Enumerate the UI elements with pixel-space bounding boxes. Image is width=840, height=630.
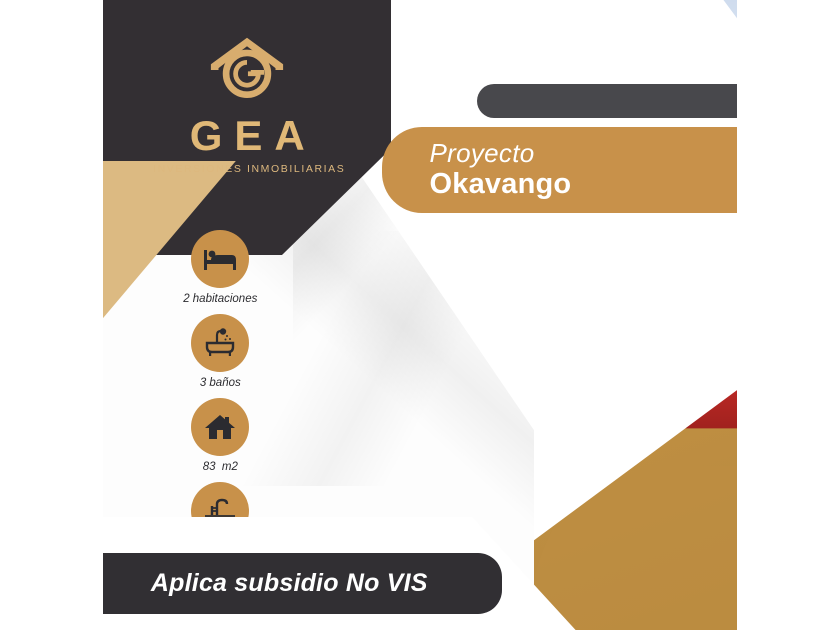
bed-icon	[203, 246, 237, 272]
poster-canvas: GEA INVERSIONES INMOBILIARIAS Proyecto O…	[0, 0, 840, 630]
feature-icon-circle	[191, 398, 249, 456]
feature-list: 2 habitaciones 3 baños	[141, 230, 300, 566]
project-name: Okavango	[430, 168, 738, 200]
feature-label: 3 baños	[141, 377, 300, 389]
feature-icon-circle	[191, 230, 249, 288]
house-monogram-g-icon	[201, 32, 293, 108]
feature-item-bedrooms: 2 habitaciones	[141, 230, 300, 305]
feature-item-area: 83 m2	[141, 398, 300, 473]
feature-label: 2 habitaciones	[141, 293, 300, 305]
footer-banner: Aplica subsidio No VIS	[103, 553, 502, 614]
project-pre-label: Proyecto	[430, 140, 738, 168]
footer-label: Aplica subsidio No VIS	[103, 569, 428, 598]
feature-label: 83 m2	[141, 461, 300, 473]
feature-icon-circle	[191, 314, 249, 372]
poster-card: GEA INVERSIONES INMOBILIARIAS Proyecto O…	[103, 0, 737, 630]
bathtub-shower-icon	[204, 328, 236, 358]
house-icon	[204, 413, 236, 441]
brand-name: GEA	[103, 115, 391, 157]
feature-item-bathrooms: 3 baños	[141, 314, 300, 389]
brand-tagline: INVERSIONES INMOBILIARIAS	[103, 163, 391, 175]
brand-logo: GEA INVERSIONES INMOBILIARIAS	[103, 32, 391, 175]
top-dark-bar	[477, 84, 737, 118]
project-title-banner: Proyecto Okavango	[382, 127, 737, 213]
